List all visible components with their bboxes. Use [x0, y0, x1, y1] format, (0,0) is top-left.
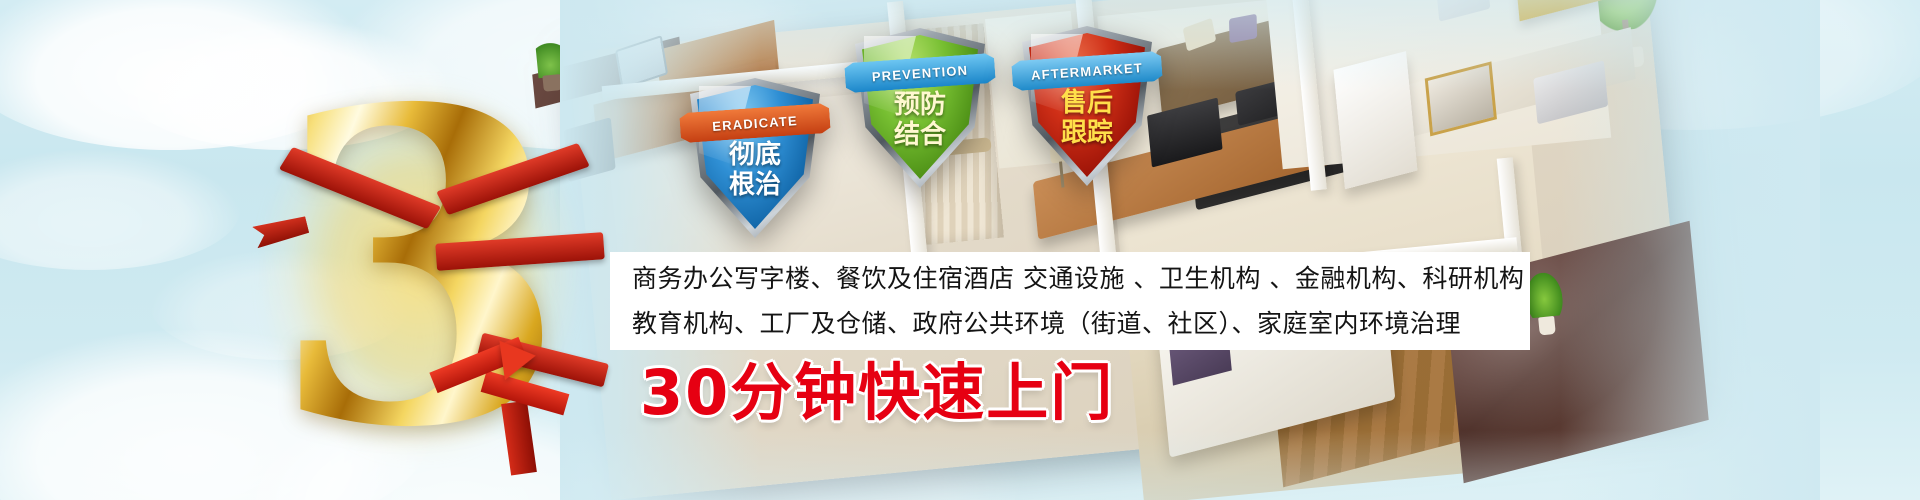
shield-chinese-label: 彻底 根治 [690, 140, 820, 200]
red-ribbon-arrow-icon [430, 330, 600, 460]
photo-edge-fade [1560, 0, 1820, 500]
shield-chinese-line2: 跟踪 [1022, 118, 1152, 148]
shield-chinese-label: 预防 结合 [855, 90, 985, 150]
service-scope-line-2: 教育机构、工厂及仓储、政府公共环境（街道、社区）、家庭室内环境治理 [632, 301, 1508, 346]
headline-text: 30分钟快速上门 [640, 358, 1114, 428]
shield-chinese-line1: 预防 [855, 90, 985, 120]
shield-chinese-line1: 彻底 [690, 140, 820, 170]
shield-badge-prevention: PREVENTION 预防 结合 [855, 28, 985, 188]
shield-chinese-line1: 售后 [1022, 88, 1152, 118]
service-scope-line-1: 商务办公写字楼、餐饮及住宿酒店 交通设施 、卫生机构 、金融机构、科研机构 [632, 256, 1508, 301]
promotional-banner: 3 ERADICATE 彻底 根治 PREVENTION [0, 0, 1920, 500]
shield-badge-eradicate: ERADICATE 彻底 根治 [690, 78, 820, 238]
shield-badge-aftermarket: AFTERMARKET 售后 跟踪 [1022, 26, 1152, 186]
service-scope-panel: 商务办公写字楼、餐饮及住宿酒店 交通设施 、卫生机构 、金融机构、科研机构 教育… [610, 252, 1530, 350]
shield-chinese-line2: 根治 [690, 170, 820, 200]
shield-chinese-label: 售后 跟踪 [1022, 88, 1152, 148]
shield-chinese-line2: 结合 [855, 120, 985, 150]
arrow-head [499, 336, 538, 380]
